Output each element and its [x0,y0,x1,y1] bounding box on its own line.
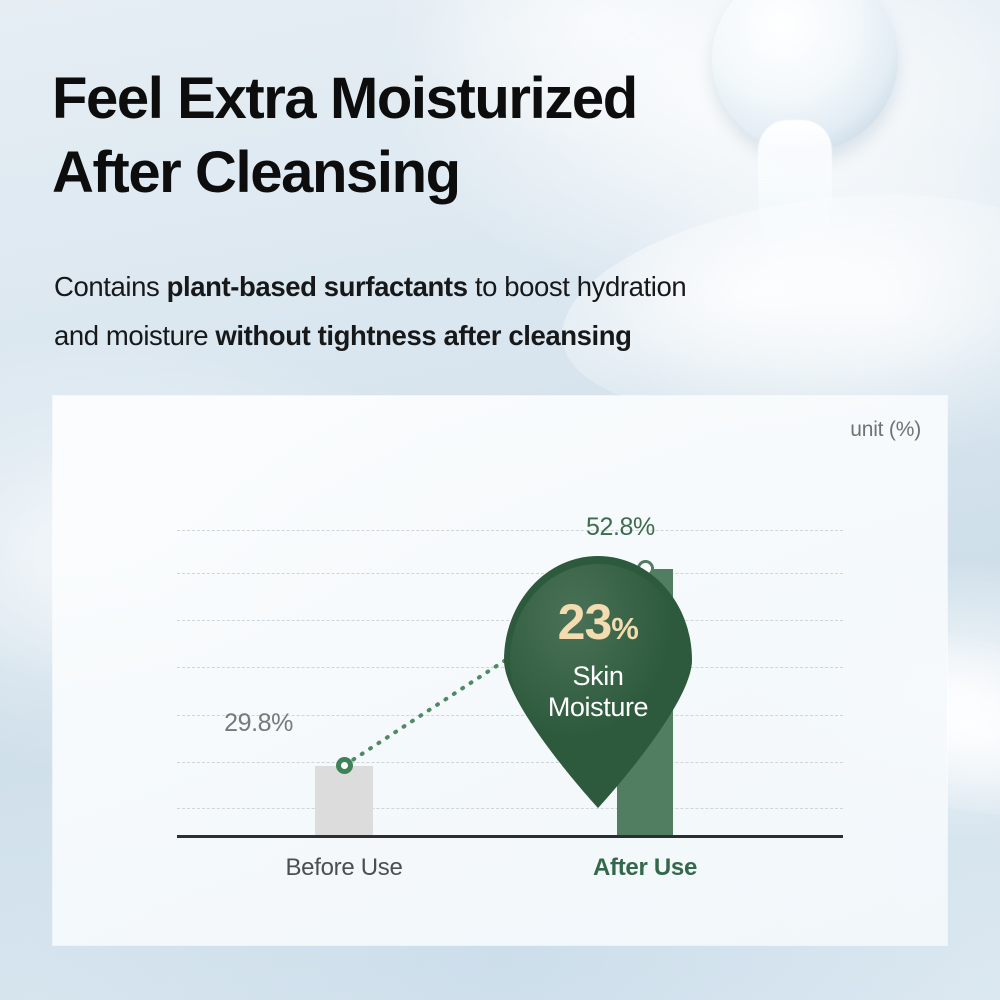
promo-page: Feel Extra Moisturized After Cleansing C… [0,0,1000,1000]
headline-block: Feel Extra Moisturized After Cleansing [52,62,812,210]
callout-caption-line-2: Moisture [496,692,700,723]
subheadline-text-c: and moisture [54,320,215,351]
subheadline-text-a: Contains [54,271,167,302]
x-axis-line [177,835,843,838]
headline-line-1: Feel Extra Moisturized [52,62,812,136]
chart-plot-area: 29.8% 52.8% Before Use After Use 23% Ski… [177,524,843,835]
subheadline-text-b: to boost hydration [468,271,687,302]
chart-unit-label: unit (%) [850,418,921,442]
data-point-marker-before [336,757,353,774]
subheadline-line-2: and moisture without tightness after cle… [54,311,914,360]
category-label-before-use: Before Use [285,854,402,882]
subheadline-line-1: Contains plant-based surfactants to boos… [54,262,914,311]
subheadline-block: Contains plant-based surfactants to boos… [54,262,914,360]
callout-number: 23 [558,594,612,650]
callout-percent-sign: % [611,611,638,646]
chart-card: unit (%) 29.8% 52.8% [53,396,947,945]
subheadline-emphasis-b: without tightness after cleansing [215,320,631,351]
skin-moisture-callout: 23% Skin Moisture [496,556,700,808]
subheadline-emphasis-a: plant-based surfactants [167,271,468,302]
callout-value: 23% [496,594,700,657]
pin-text-block: 23% Skin Moisture [496,556,700,723]
callout-caption: Skin Moisture [496,661,700,723]
value-label-after: 52.8% [586,513,655,542]
value-label-before: 29.8% [224,709,299,738]
callout-caption-line-1: Skin [496,661,700,692]
headline-line-2: After Cleansing [52,136,812,210]
category-label-after-use: After Use [593,854,697,882]
bar-before-use [315,766,373,835]
